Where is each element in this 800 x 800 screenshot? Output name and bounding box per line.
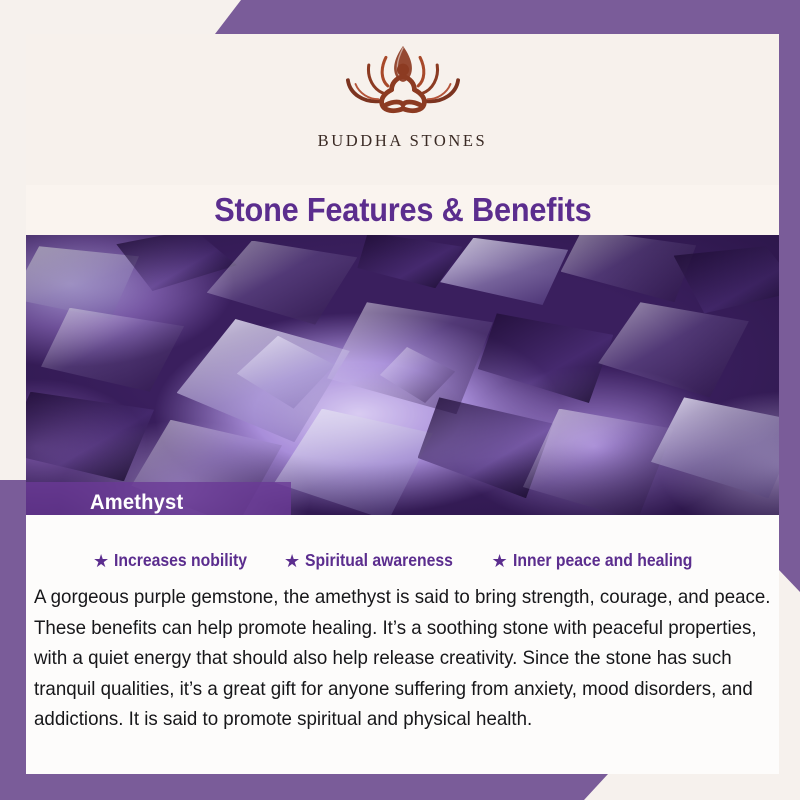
card-inner-page: BUDDHA STONES Stone Features & Benefits	[26, 34, 779, 774]
stone-name-banner: Amethyst	[26, 482, 291, 515]
decorative-band-top	[215, 0, 800, 34]
amethyst-crystal-cluster-photo: Amethyst	[26, 235, 779, 515]
decorative-band-right	[779, 0, 800, 592]
feature-item: ★ Increases nobility	[93, 550, 262, 571]
decorative-band-bottom	[0, 774, 608, 800]
content-body: ★ Increases nobility ★ Spiritual awarene…	[26, 515, 779, 774]
infographic-card: BUDDHA STONES Stone Features & Benefits	[0, 0, 800, 800]
brand-name: BUDDHA STONES	[318, 131, 488, 151]
stone-name: Amethyst	[90, 491, 183, 515]
brand-header: BUDDHA STONES	[26, 34, 779, 185]
decorative-band-left	[0, 480, 26, 774]
title-band: Stone Features & Benefits	[26, 185, 779, 235]
star-icon: ★	[93, 552, 109, 570]
lotus-meditation-figure-icon	[327, 38, 479, 130]
page-title: Stone Features & Benefits	[214, 191, 591, 229]
feature-label: Spiritual awareness	[305, 550, 453, 571]
feature-label: Inner peace and healing	[513, 550, 692, 571]
feature-label: Increases nobility	[114, 550, 247, 571]
star-icon: ★	[492, 552, 508, 570]
stone-description: A gorgeous purple gemstone, the amethyst…	[34, 582, 782, 735]
feature-item: ★ Spiritual awareness	[284, 550, 470, 571]
feature-list: ★ Increases nobility ★ Spiritual awarene…	[26, 515, 779, 571]
star-icon: ★	[284, 552, 300, 570]
feature-item: ★ Inner peace and healing	[492, 550, 713, 571]
